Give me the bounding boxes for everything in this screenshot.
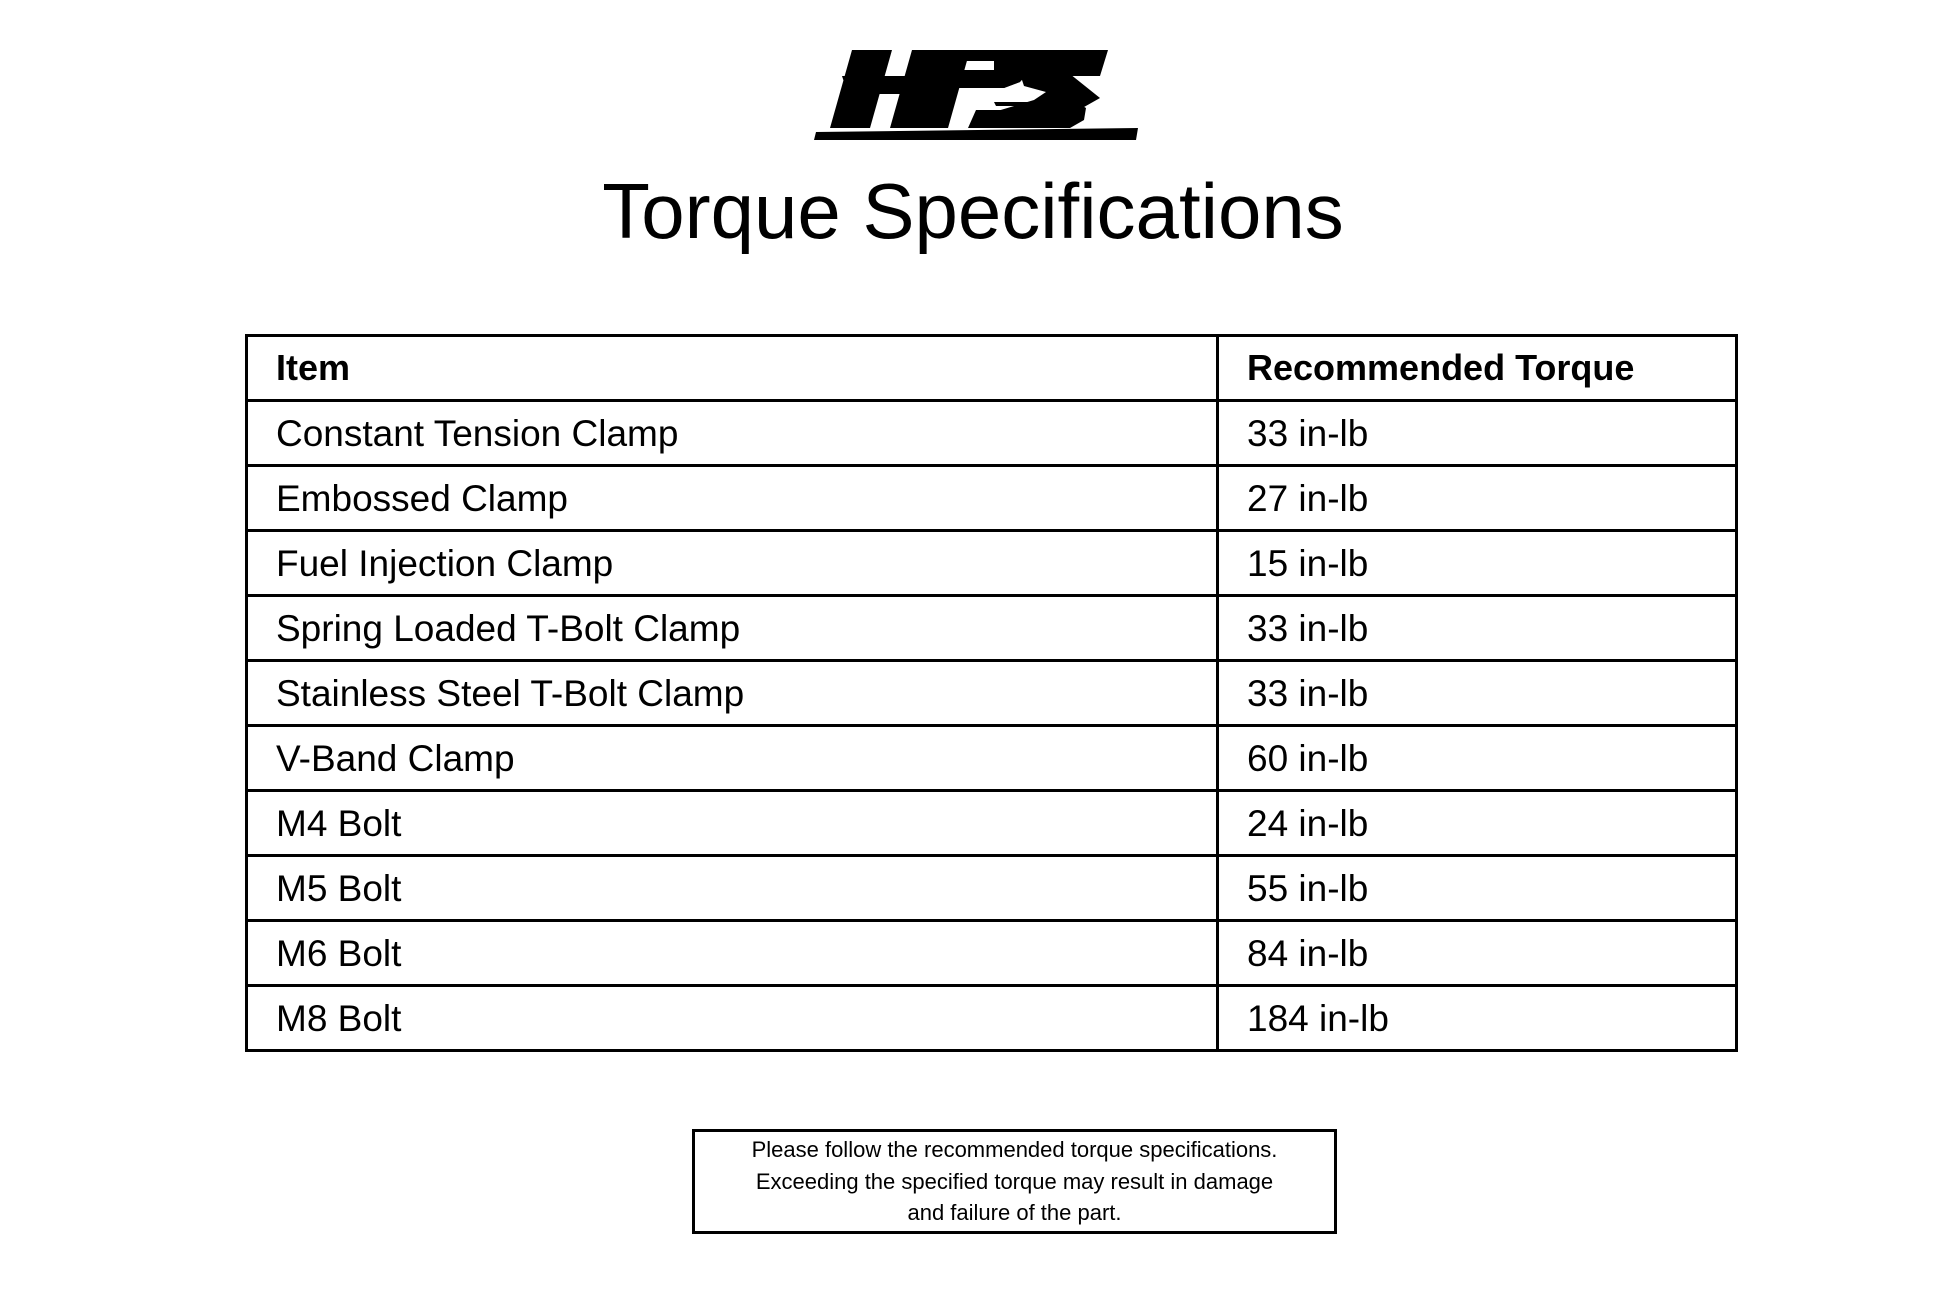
cell-torque: 55 in-lb [1218,856,1737,921]
table-row: Embossed Clamp 27 in-lb [247,466,1737,531]
cell-torque: 33 in-lb [1218,596,1737,661]
cell-item: M5 Bolt [247,856,1218,921]
table-row: V-Band Clamp 60 in-lb [247,726,1737,791]
table-header-row: Item Recommended Torque [247,336,1737,401]
cell-item: Embossed Clamp [247,466,1218,531]
cell-torque: 184 in-lb [1218,986,1737,1051]
cell-item: Constant Tension Clamp [247,401,1218,466]
torque-spec-table-container: Item Recommended Torque Constant Tension… [245,334,1735,1052]
torque-spec-table: Item Recommended Torque Constant Tension… [245,334,1738,1052]
cell-item: Spring Loaded T-Bolt Clamp [247,596,1218,661]
note-line: Please follow the recommended torque spe… [752,1134,1278,1166]
note-line: and failure of the part. [907,1197,1121,1229]
cell-item: M6 Bolt [247,921,1218,986]
hps-wordmark-logo [808,40,1138,140]
brand-logo-area [0,40,1946,150]
page-title: Torque Specifications [0,172,1946,250]
cell-item: V-Band Clamp [247,726,1218,791]
column-header-item: Item [247,336,1218,401]
table-row: Fuel Injection Clamp 15 in-lb [247,531,1737,596]
table-row: Stainless Steel T-Bolt Clamp 33 in-lb [247,661,1737,726]
table-header: Item Recommended Torque [247,336,1737,401]
column-header-torque: Recommended Torque [1218,336,1737,401]
table-row: M8 Bolt 184 in-lb [247,986,1737,1051]
cell-item: Stainless Steel T-Bolt Clamp [247,661,1218,726]
cell-torque: 60 in-lb [1218,726,1737,791]
note-line: Exceeding the specified torque may resul… [756,1166,1273,1198]
table-row: Constant Tension Clamp 33 in-lb [247,401,1737,466]
cell-torque: 24 in-lb [1218,791,1737,856]
warning-note-box: Please follow the recommended torque spe… [692,1129,1337,1234]
cell-item: M4 Bolt [247,791,1218,856]
table-row: M4 Bolt 24 in-lb [247,791,1737,856]
cell-torque: 15 in-lb [1218,531,1737,596]
table-row: M6 Bolt 84 in-lb [247,921,1737,986]
table-row: Spring Loaded T-Bolt Clamp 33 in-lb [247,596,1737,661]
table-body: Constant Tension Clamp 33 in-lb Embossed… [247,401,1737,1051]
cell-torque: 33 in-lb [1218,401,1737,466]
cell-torque: 84 in-lb [1218,921,1737,986]
cell-torque: 27 in-lb [1218,466,1737,531]
cell-item: Fuel Injection Clamp [247,531,1218,596]
cell-item: M8 Bolt [247,986,1218,1051]
table-row: M5 Bolt 55 in-lb [247,856,1737,921]
cell-torque: 33 in-lb [1218,661,1737,726]
